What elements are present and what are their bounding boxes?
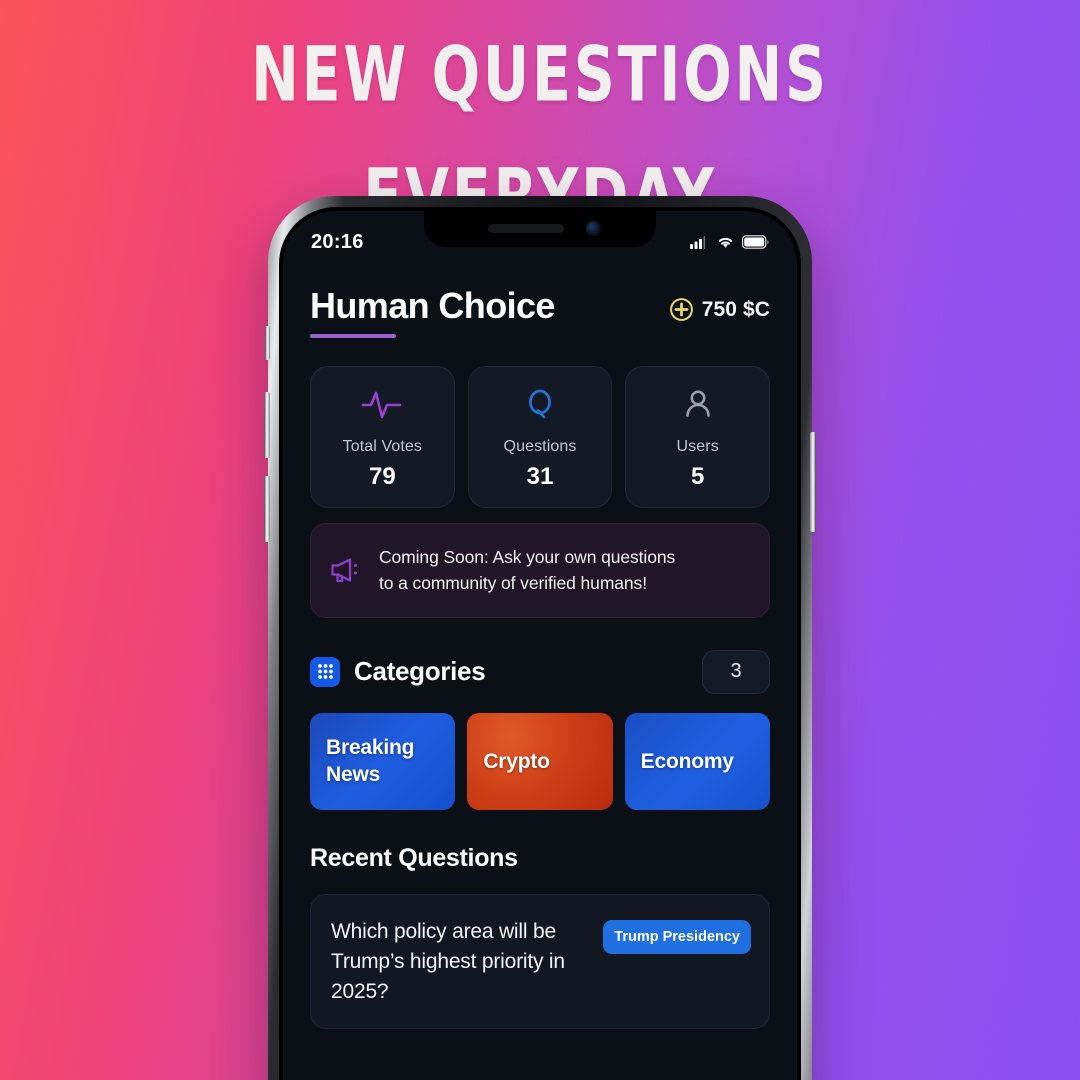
announcement-text: Coming Soon: Ask your own questions to a… [379,544,675,597]
category-card-breaking-news[interactable]: Breaking News [310,713,455,810]
categories-title: Categories [354,656,485,687]
stat-label: Total Votes [343,438,422,456]
announcement-banner: Coming Soon: Ask your own questions to a… [310,523,770,618]
stat-card-total-votes[interactable]: Total Votes 79 [310,366,455,508]
stat-label: Users [677,438,719,456]
app-title: Human Choice [310,287,555,325]
question-q-icon [523,383,557,425]
title-underline [310,334,396,338]
recent-questions-title: Recent Questions [310,844,770,873]
status-bar-time: 20:16 [311,221,364,254]
grid-dots-icon [310,657,340,687]
battery-icon [742,235,769,249]
mute-switch-button[interactable] [265,326,270,360]
announcement-line-1: Coming Soon: Ask your own questions [379,544,675,571]
question-tag[interactable]: Trump Presidency [603,920,751,954]
stat-value: 5 [691,463,704,491]
power-button[interactable] [810,432,816,532]
stats-row: Total Votes 79 Questions 31 [310,366,770,508]
status-bar-icons [690,225,769,249]
coin-balance[interactable]: 750 $C [669,297,770,322]
cellular-signal-icon [690,235,709,249]
phone-mockup: 20:16 [268,196,812,1080]
stat-card-users[interactable]: Users 5 [625,366,770,508]
stat-value: 31 [527,463,554,491]
category-card-crypto[interactable]: Crypto [467,713,612,810]
megaphone-icon [329,555,363,585]
coin-plus-icon [669,297,694,322]
poster-headline-line-1: New Questions [43,14,1037,136]
pulse-activity-icon [360,383,404,425]
categories-count-badge: 3 [702,650,770,694]
volume-up-button[interactable] [264,392,270,458]
stat-label: Questions [504,438,577,456]
question-card[interactable]: Which policy area will be Trump’s highes… [310,894,770,1029]
user-person-icon [681,383,715,425]
phone-screen: 20:16 [283,211,797,1080]
app-title-block: Human Choice [310,287,555,338]
app-header: Human Choice 750 $C [310,287,770,338]
volume-down-button[interactable] [264,476,270,542]
category-card-economy[interactable]: Economy [625,713,770,810]
wifi-icon [716,235,735,249]
categories-row: Breaking News Crypto Economy [310,713,770,810]
stat-value: 79 [369,463,396,491]
app-content: Human Choice 750 $C [283,263,797,1029]
status-bar: 20:16 [283,211,797,263]
coin-amount-label: 750 $C [702,298,770,322]
announcement-line-2: to a community of verified humans! [379,570,675,597]
phone-bezel: 20:16 [279,207,801,1080]
categories-section-header: Categories 3 [310,650,770,694]
question-text: Which policy area will be Trump’s highes… [331,917,589,1006]
stat-card-questions[interactable]: Questions 31 [468,366,613,508]
